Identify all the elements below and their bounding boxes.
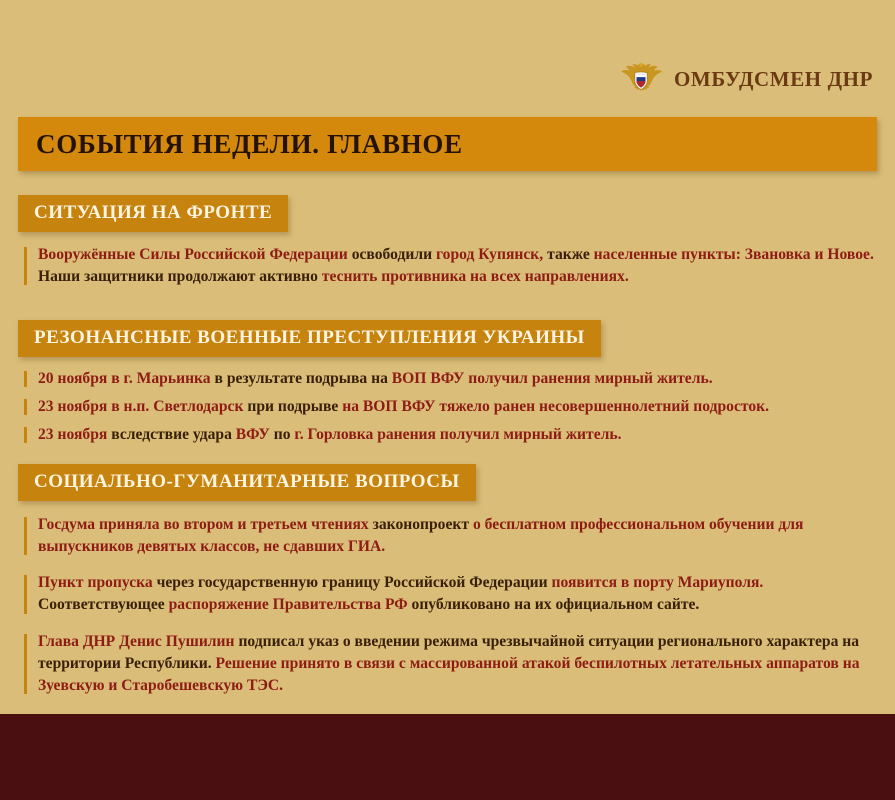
text-run-plain: в результате подрыва на: [215, 370, 392, 387]
text-run-emphasis: 20 ноября в г. Марьинка: [38, 370, 215, 387]
text-run-emphasis: город Купянск,: [436, 246, 547, 263]
text-run-plain: законопроект: [373, 516, 473, 533]
item-accent-bar: [24, 517, 27, 555]
brand-name: ОМБУДСМЕН ДНР: [674, 67, 873, 92]
text-run-plain: также: [547, 246, 594, 263]
news-item: Вооружённые Силы Российской Федерации ос…: [18, 244, 880, 288]
text-run-emphasis: появится в порту Мариуполя.: [552, 574, 764, 591]
news-item-text: Госдума приняла во втором и третьем чтен…: [38, 514, 880, 558]
news-item-text: Глава ДНР Денис Пушилин подписал указ о …: [38, 631, 880, 697]
news-item: Пункт пропуска через государственную гра…: [18, 572, 880, 616]
text-run-emphasis: ВФУ: [236, 426, 274, 443]
text-run-emphasis: Госдума приняла во втором и третьем чтен…: [38, 516, 373, 533]
news-item-text: 20 ноября в г. Марьинка в результате под…: [38, 368, 880, 390]
item-accent-bar: [24, 634, 27, 694]
item-accent-bar: [24, 575, 27, 613]
page-title: СОБЫТИЯ НЕДЕЛИ. ГЛАВНОЕ: [18, 129, 463, 160]
text-run-emphasis: 23 ноября: [38, 426, 111, 443]
text-run-plain: Наши защитники продолжают активно: [38, 268, 322, 285]
section-items-social: Госдума приняла во втором и третьем чтен…: [18, 514, 880, 697]
text-run-emphasis: Вооружённые Силы Российской Федерации: [38, 246, 352, 263]
news-item: 23 ноября вследствие удара ВФУ по г. Гор…: [18, 424, 880, 446]
text-run-plain: через государственную границу Российской…: [157, 574, 552, 591]
text-run-emphasis: получил ранения мирный житель.: [468, 370, 712, 387]
double-headed-eagle-emblem-icon: [618, 56, 664, 102]
text-run-emphasis: Пункт пропуска: [38, 574, 157, 591]
news-item-text: Вооружённые Силы Российской Федерации ос…: [38, 244, 880, 288]
news-item-text: 23 ноября вследствие удара ВФУ по г. Гор…: [38, 424, 880, 446]
section-social: СОЦИАЛЬНО-ГУМАНИТАРНЫЕ ВОПРОСЫ Госдума п…: [18, 464, 880, 711]
section-header-crimes: РЕЗОНАНСНЫЕ ВОЕННЫЕ ПРЕСТУПЛЕНИЯ УКРАИНЫ: [18, 320, 601, 357]
main-title-banner: СОБЫТИЯ НЕДЕЛИ. ГЛАВНОЕ: [18, 117, 877, 171]
text-run-emphasis: теснить противника на всех направлениях.: [322, 268, 629, 285]
news-item-text: 23 ноября в н.п. Светлодарск при подрыве…: [38, 396, 880, 418]
text-run-plain: по: [274, 426, 295, 443]
text-run-plain: Соответствующее: [38, 596, 169, 613]
section-header-front: СИТУАЦИЯ НА ФРОНТЕ: [18, 195, 288, 232]
item-accent-bar: [24, 427, 27, 443]
text-run-emphasis: на ВОП ВФУ: [342, 398, 439, 415]
text-run-emphasis: г. Горловка ранения получил мирный жител…: [294, 426, 621, 443]
section-items-front: Вооружённые Силы Российской Федерации ос…: [18, 244, 880, 288]
item-accent-bar: [24, 247, 27, 285]
text-run-emphasis: ВОП ВФУ: [392, 370, 469, 387]
item-accent-bar: [24, 371, 27, 387]
text-run-emphasis: населенные пункты: Звановка и Новое.: [594, 246, 874, 263]
news-item: 20 ноября в г. Марьинка в результате под…: [18, 368, 880, 390]
section-header-social: СОЦИАЛЬНО-ГУМАНИТАРНЫЕ ВОПРОСЫ: [18, 464, 476, 501]
news-item-text: Пункт пропуска через государственную гра…: [38, 572, 880, 616]
text-run-emphasis: 23 ноября в н.п. Светлодарск: [38, 398, 247, 415]
news-item: Госдума приняла во втором и третьем чтен…: [18, 514, 880, 558]
section-items-crimes: 20 ноября в г. Марьинка в результате под…: [18, 368, 880, 446]
text-run-emphasis: Глава ДНР Денис Пушилин: [38, 633, 238, 650]
section-crimes: РЕЗОНАНСНЫЕ ВОЕННЫЕ ПРЕСТУПЛЕНИЯ УКРАИНЫ…: [18, 320, 880, 452]
news-item: 23 ноября в н.п. Светлодарск при подрыве…: [18, 396, 880, 418]
text-run-emphasis: тяжело ранен несовершеннолетний подросто…: [439, 398, 769, 415]
poster-canvas: ОМБУДСМЕН ДНР СОБЫТИЯ НЕДЕЛИ. ГЛАВНОЕ СИ…: [0, 0, 895, 800]
text-run-plain: опубликовано на их официальном сайте.: [412, 596, 700, 613]
brand-header: ОМБУДСМЕН ДНР: [618, 56, 873, 102]
text-run-plain: при подрыве: [247, 398, 342, 415]
text-run-emphasis: распоряжение Правительства РФ: [169, 596, 412, 613]
bottom-band: [0, 714, 895, 800]
item-accent-bar: [24, 399, 27, 415]
text-run-plain: вследствие удара: [111, 426, 236, 443]
news-item: Глава ДНР Денис Пушилин подписал указ о …: [18, 631, 880, 697]
text-run-plain: освободили: [352, 246, 436, 263]
section-front: СИТУАЦИЯ НА ФРОНТЕ Вооружённые Силы Росс…: [18, 195, 880, 288]
